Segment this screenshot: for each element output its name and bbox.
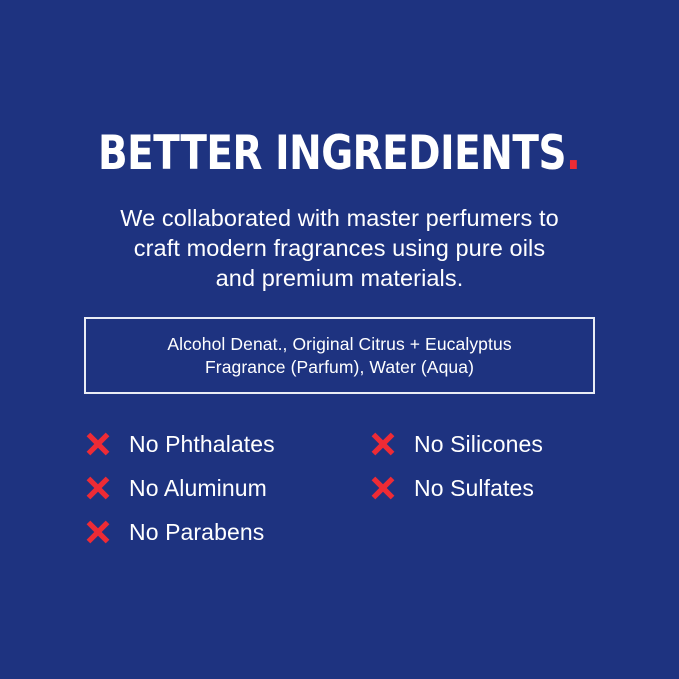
claim-item-no-sulfates: No Sulfates — [369, 466, 604, 510]
claim-label: No Silicones — [414, 433, 543, 456]
headline-accent-dot: . — [566, 126, 580, 181]
claim-item-no-silicones: No Silicones — [369, 422, 604, 466]
claim-item-no-parabens: No Parabens — [84, 510, 369, 554]
claim-label: No Phthalates — [129, 433, 275, 456]
claim-item-no-phthalates: No Phthalates — [84, 422, 369, 466]
red-x-icon — [84, 518, 112, 546]
headline-container: BETTER INGREDIENTS. — [0, 130, 679, 177]
red-x-icon — [84, 474, 112, 502]
claim-item-no-aluminum: No Aluminum — [84, 466, 369, 510]
claim-label: No Sulfates — [414, 477, 534, 500]
red-x-icon — [369, 430, 397, 458]
ingredients-line-2: Fragrance (Parfum), Water (Aqua) — [205, 356, 474, 379]
subheading-line-2: craft modern fragrances using pure oils — [0, 233, 679, 263]
claims-column-right: No Silicones No Sulfates — [369, 422, 604, 554]
claims-column-left: No Phthalates No Aluminum No Parabens — [84, 422, 369, 554]
subheading: We collaborated with master perfumers to… — [0, 203, 679, 293]
claim-label: No Parabens — [129, 521, 264, 544]
subheading-line-1: We collaborated with master perfumers to — [0, 203, 679, 233]
red-x-icon — [369, 474, 397, 502]
ingredients-line-1: Alcohol Denat., Original Citrus + Eucaly… — [167, 333, 511, 356]
ingredients-infographic: BETTER INGREDIENTS. We collaborated with… — [0, 0, 679, 679]
free-from-claims: No Phthalates No Aluminum No Parabens — [84, 422, 604, 554]
ingredients-list-box: Alcohol Denat., Original Citrus + Eucaly… — [84, 317, 595, 394]
page-title: BETTER INGREDIENTS. — [98, 130, 580, 177]
headline-text: BETTER INGREDIENTS — [98, 126, 566, 181]
red-x-icon — [84, 430, 112, 458]
subheading-line-3: and premium materials. — [0, 263, 679, 293]
claim-label: No Aluminum — [129, 477, 267, 500]
